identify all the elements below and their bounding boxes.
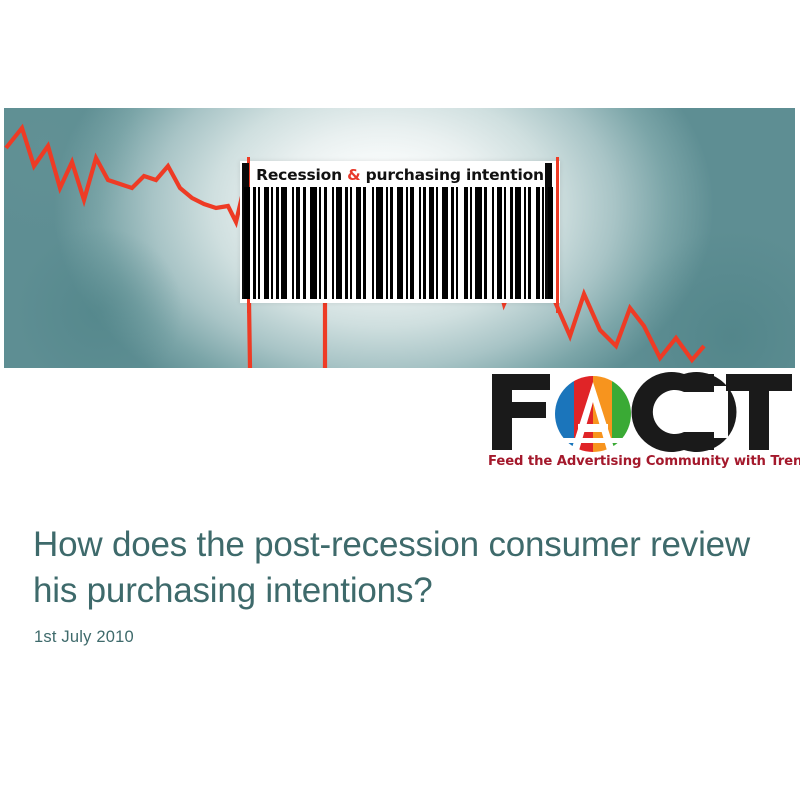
fact-logo-tagline: Feed the Advertising Community with Tren… [488,454,794,469]
barcode-bar [386,187,388,299]
barcode-bar [410,187,414,299]
barcode-bars [244,187,556,299]
barcode-title: Recession & purchasing intention [240,166,560,184]
barcode-title-ampersand: & [347,166,360,184]
barcode-bar [376,187,383,299]
fact-logo: Feed the Advertising Community with Tren… [488,372,794,478]
barcode-bar [397,187,403,299]
fact-wordmark [488,372,794,452]
barcode-bar [542,187,544,299]
barcode-bar [406,187,408,299]
barcode-bar [442,187,448,299]
barcode-bar [292,187,294,299]
barcode-bar [390,187,393,299]
barcode-bar [484,187,487,299]
barcode-bar [456,187,458,299]
barcode-bar [451,187,454,299]
barcode-bar [271,187,273,299]
barcode-title-prefix: Recession [256,166,342,184]
barcode-bar [332,187,334,299]
barcode-bar [324,187,327,299]
barcode-bar [548,187,553,299]
logo-letter-c [632,372,737,452]
barcode-title-suffix: purchasing intention [366,166,544,184]
barcode-bar [276,187,279,299]
barcode-bar [310,187,317,299]
barcode-bar [345,187,348,299]
barcode-bar [475,187,482,299]
barcode-bar [528,187,531,299]
barcode-bar [510,187,513,299]
barcode-bar [319,187,321,299]
logo-letter-f [492,374,550,450]
barcode-bar [423,187,426,299]
slide-canvas: Recession & purchasing intention [0,0,800,800]
barcode-bar [436,187,438,299]
barcode-bar [253,187,256,299]
page-title: How does the post-recession consumer rev… [33,522,763,614]
barcode-bar [464,187,468,299]
barcode-bar [350,187,352,299]
banner-image: Recession & purchasing intention [4,108,795,368]
barcode-bar [497,187,502,299]
page-date: 1st July 2010 [34,628,134,647]
barcode-graphic: Recession & purchasing intention [240,161,560,303]
barcode-bar [536,187,540,299]
barcode-bar [419,187,421,299]
barcode-bar [258,187,260,299]
barcode-bar [492,187,494,299]
barcode-bar [303,187,306,299]
barcode-bar [356,187,361,299]
barcode-bar [363,187,366,299]
logo-letter-a [555,376,632,452]
barcode-bar [429,187,434,299]
barcode-bar [504,187,506,299]
barcode-bar [372,187,374,299]
barcode-bar [281,187,287,299]
barcode-bar [470,187,472,299]
barcode-bar [515,187,521,299]
barcode-bar [244,187,250,299]
barcode-bar [336,187,342,299]
barcode-bar [264,187,269,299]
barcode-bar [524,187,526,299]
barcode-bar [296,187,300,299]
